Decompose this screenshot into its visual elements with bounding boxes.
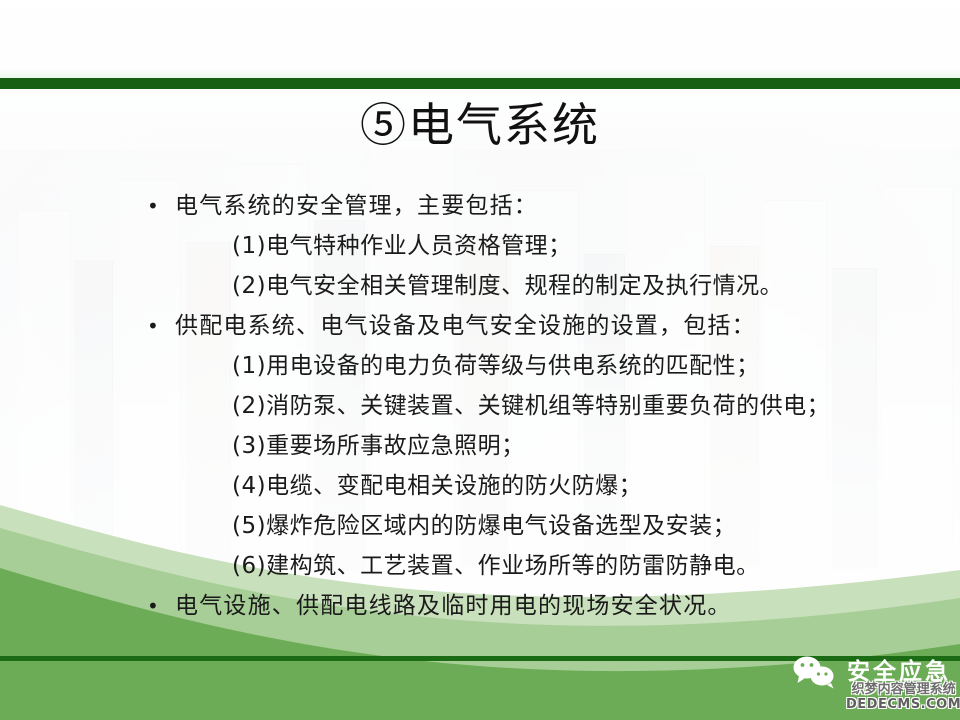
bullet-marker-icon: •: [147, 586, 159, 626]
sub-item: (3)重要场所事故应急照明；: [0, 426, 960, 466]
sub-item-text: (2)电气安全相关管理制度、规程的制定及执行情况。: [232, 273, 783, 299]
bullet-item: • 电气系统的安全管理，主要包括：: [0, 186, 960, 226]
sub-item-text: (1)电气特种作业人员资格管理；: [232, 233, 572, 259]
watermark-domain-text: DEDECMS.COM: [846, 698, 960, 711]
bullet-marker-icon: •: [147, 186, 159, 226]
sub-item-text: (6)建构筑、工艺装置、作业场所等的防雷防静电。: [232, 553, 760, 579]
presentation-slide: ⑤电气系统 • 电气系统的安全管理，主要包括： (1)电气特种作业人员资格管理；…: [0, 0, 960, 720]
bullet-text: 供配电系统、电气设备及电气安全设施的设置，包括：: [175, 313, 756, 339]
sub-item: (1)用电设备的电力负荷等级与供电系统的匹配性；: [0, 346, 960, 386]
bullet-marker-icon: •: [147, 306, 159, 346]
slide-title: ⑤电气系统: [0, 96, 960, 154]
wechat-icon: [792, 655, 838, 689]
dedecms-watermark: 织梦内容管理系统 DEDECMS.COM: [846, 683, 960, 711]
top-rule-glow: [0, 68, 960, 78]
bullet-item: • 供配电系统、电气设备及电气安全设施的设置，包括：: [0, 306, 960, 346]
sub-item: (1)电气特种作业人员资格管理；: [0, 226, 960, 266]
sub-item-text: (5)爆炸危险区域内的防爆电气设备选型及安装；: [232, 513, 736, 539]
sub-item: (4)电缆、变配电相关设施的防火防爆；: [0, 466, 960, 506]
slide-body: • 电气系统的安全管理，主要包括： (1)电气特种作业人员资格管理； (2)电气…: [0, 186, 960, 626]
sub-item-text: (1)用电设备的电力负荷等级与供电系统的匹配性；: [232, 353, 760, 379]
sub-item: (2)消防泵、关键装置、关键机组等特别重要负荷的供电；: [0, 386, 960, 426]
sub-item-text: (4)电缆、变配电相关设施的防火防爆；: [232, 473, 642, 499]
watermark-chinese-text: 织梦内容管理系统: [846, 683, 960, 696]
sub-item-text: (2)消防泵、关键装置、关键机组等特别重要负荷的供电；: [232, 393, 830, 419]
sub-item: (6)建构筑、工艺装置、作业场所等的防雷防静电。: [0, 546, 960, 586]
sub-item: (2)电气安全相关管理制度、规程的制定及执行情况。: [0, 266, 960, 306]
sub-item: (5)爆炸危险区域内的防爆电气设备选型及安装；: [0, 506, 960, 546]
top-divider-rule: [0, 78, 960, 89]
sub-item-text: (3)重要场所事故应急照明；: [232, 433, 525, 459]
bullet-item: • 电气设施、供配电线路及临时用电的现场安全状况。: [0, 586, 960, 626]
bullet-text: 电气设施、供配电线路及临时用电的现场安全状况。: [175, 593, 732, 619]
bullet-text: 电气系统的安全管理，主要包括：: [175, 193, 538, 219]
